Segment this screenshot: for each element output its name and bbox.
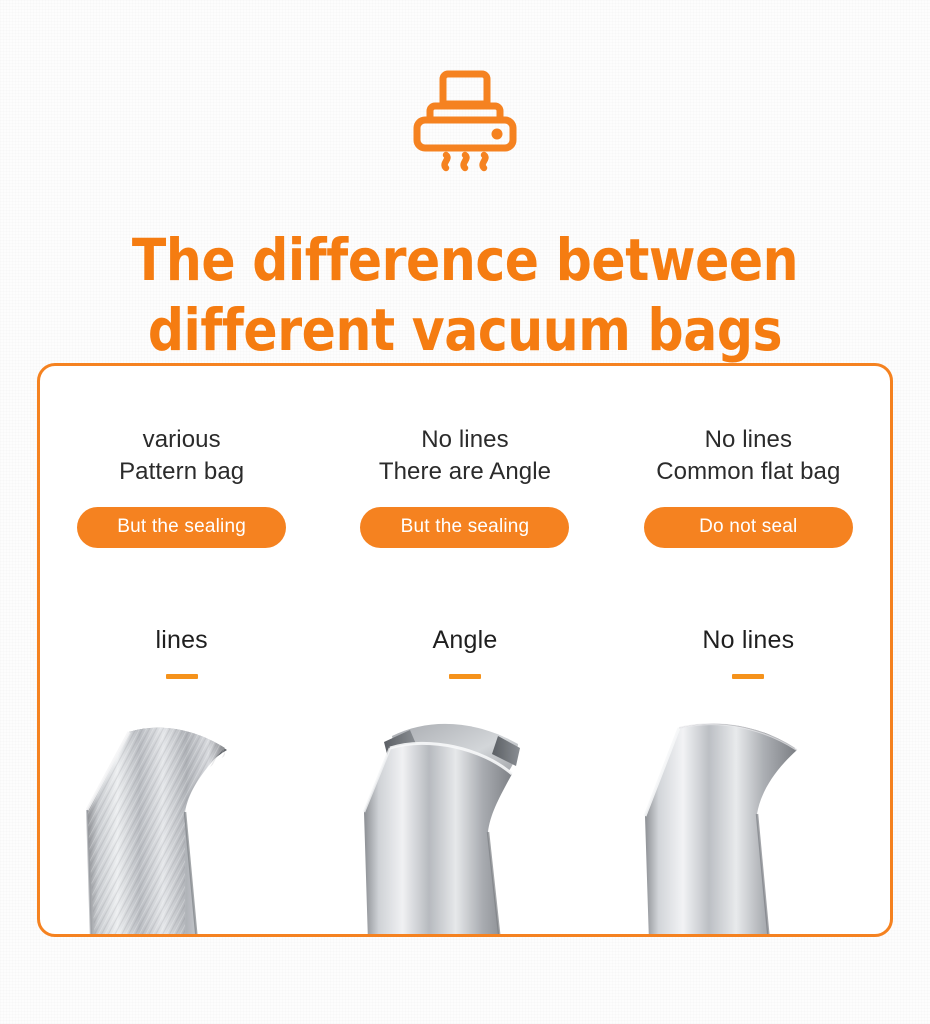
sealing-badge[interactable]: Do not seal [644, 507, 853, 548]
comparison-column-flat-bag: No lines Common flat bag Do not seal No … [607, 366, 890, 934]
sealing-badge[interactable]: But the sealing [77, 507, 286, 548]
column-sub-label: Angle [433, 628, 498, 653]
label-underline-dash [166, 674, 198, 679]
label-underline-dash [732, 674, 764, 679]
column-sub-label: lines [155, 628, 207, 653]
comparison-column-angle-bag: No lines There are Angle But the sealing… [323, 366, 606, 934]
comparison-column-pattern-bag: various Pattern bag But the sealing line… [40, 366, 323, 934]
comparison-columns: various Pattern bag But the sealing line… [40, 366, 890, 934]
common-flat-bag-image [623, 692, 873, 937]
column-heading: various Pattern bag [119, 424, 244, 489]
indicator-dot [492, 129, 503, 140]
column-sub-label: No lines [702, 628, 794, 653]
vacuum-sealer-icon [405, 66, 525, 174]
label-underline-dash [449, 674, 481, 679]
page-title: The difference between different vacuum … [60, 225, 869, 365]
column-heading: No lines There are Angle [379, 424, 551, 489]
comparison-card: various Pattern bag But the sealing line… [37, 363, 893, 937]
column-heading: No lines Common flat bag [656, 424, 840, 489]
embossed-pattern-bag-image [57, 692, 307, 937]
sealing-badge[interactable]: But the sealing [360, 507, 569, 548]
angle-gusset-bag-image [340, 692, 590, 937]
